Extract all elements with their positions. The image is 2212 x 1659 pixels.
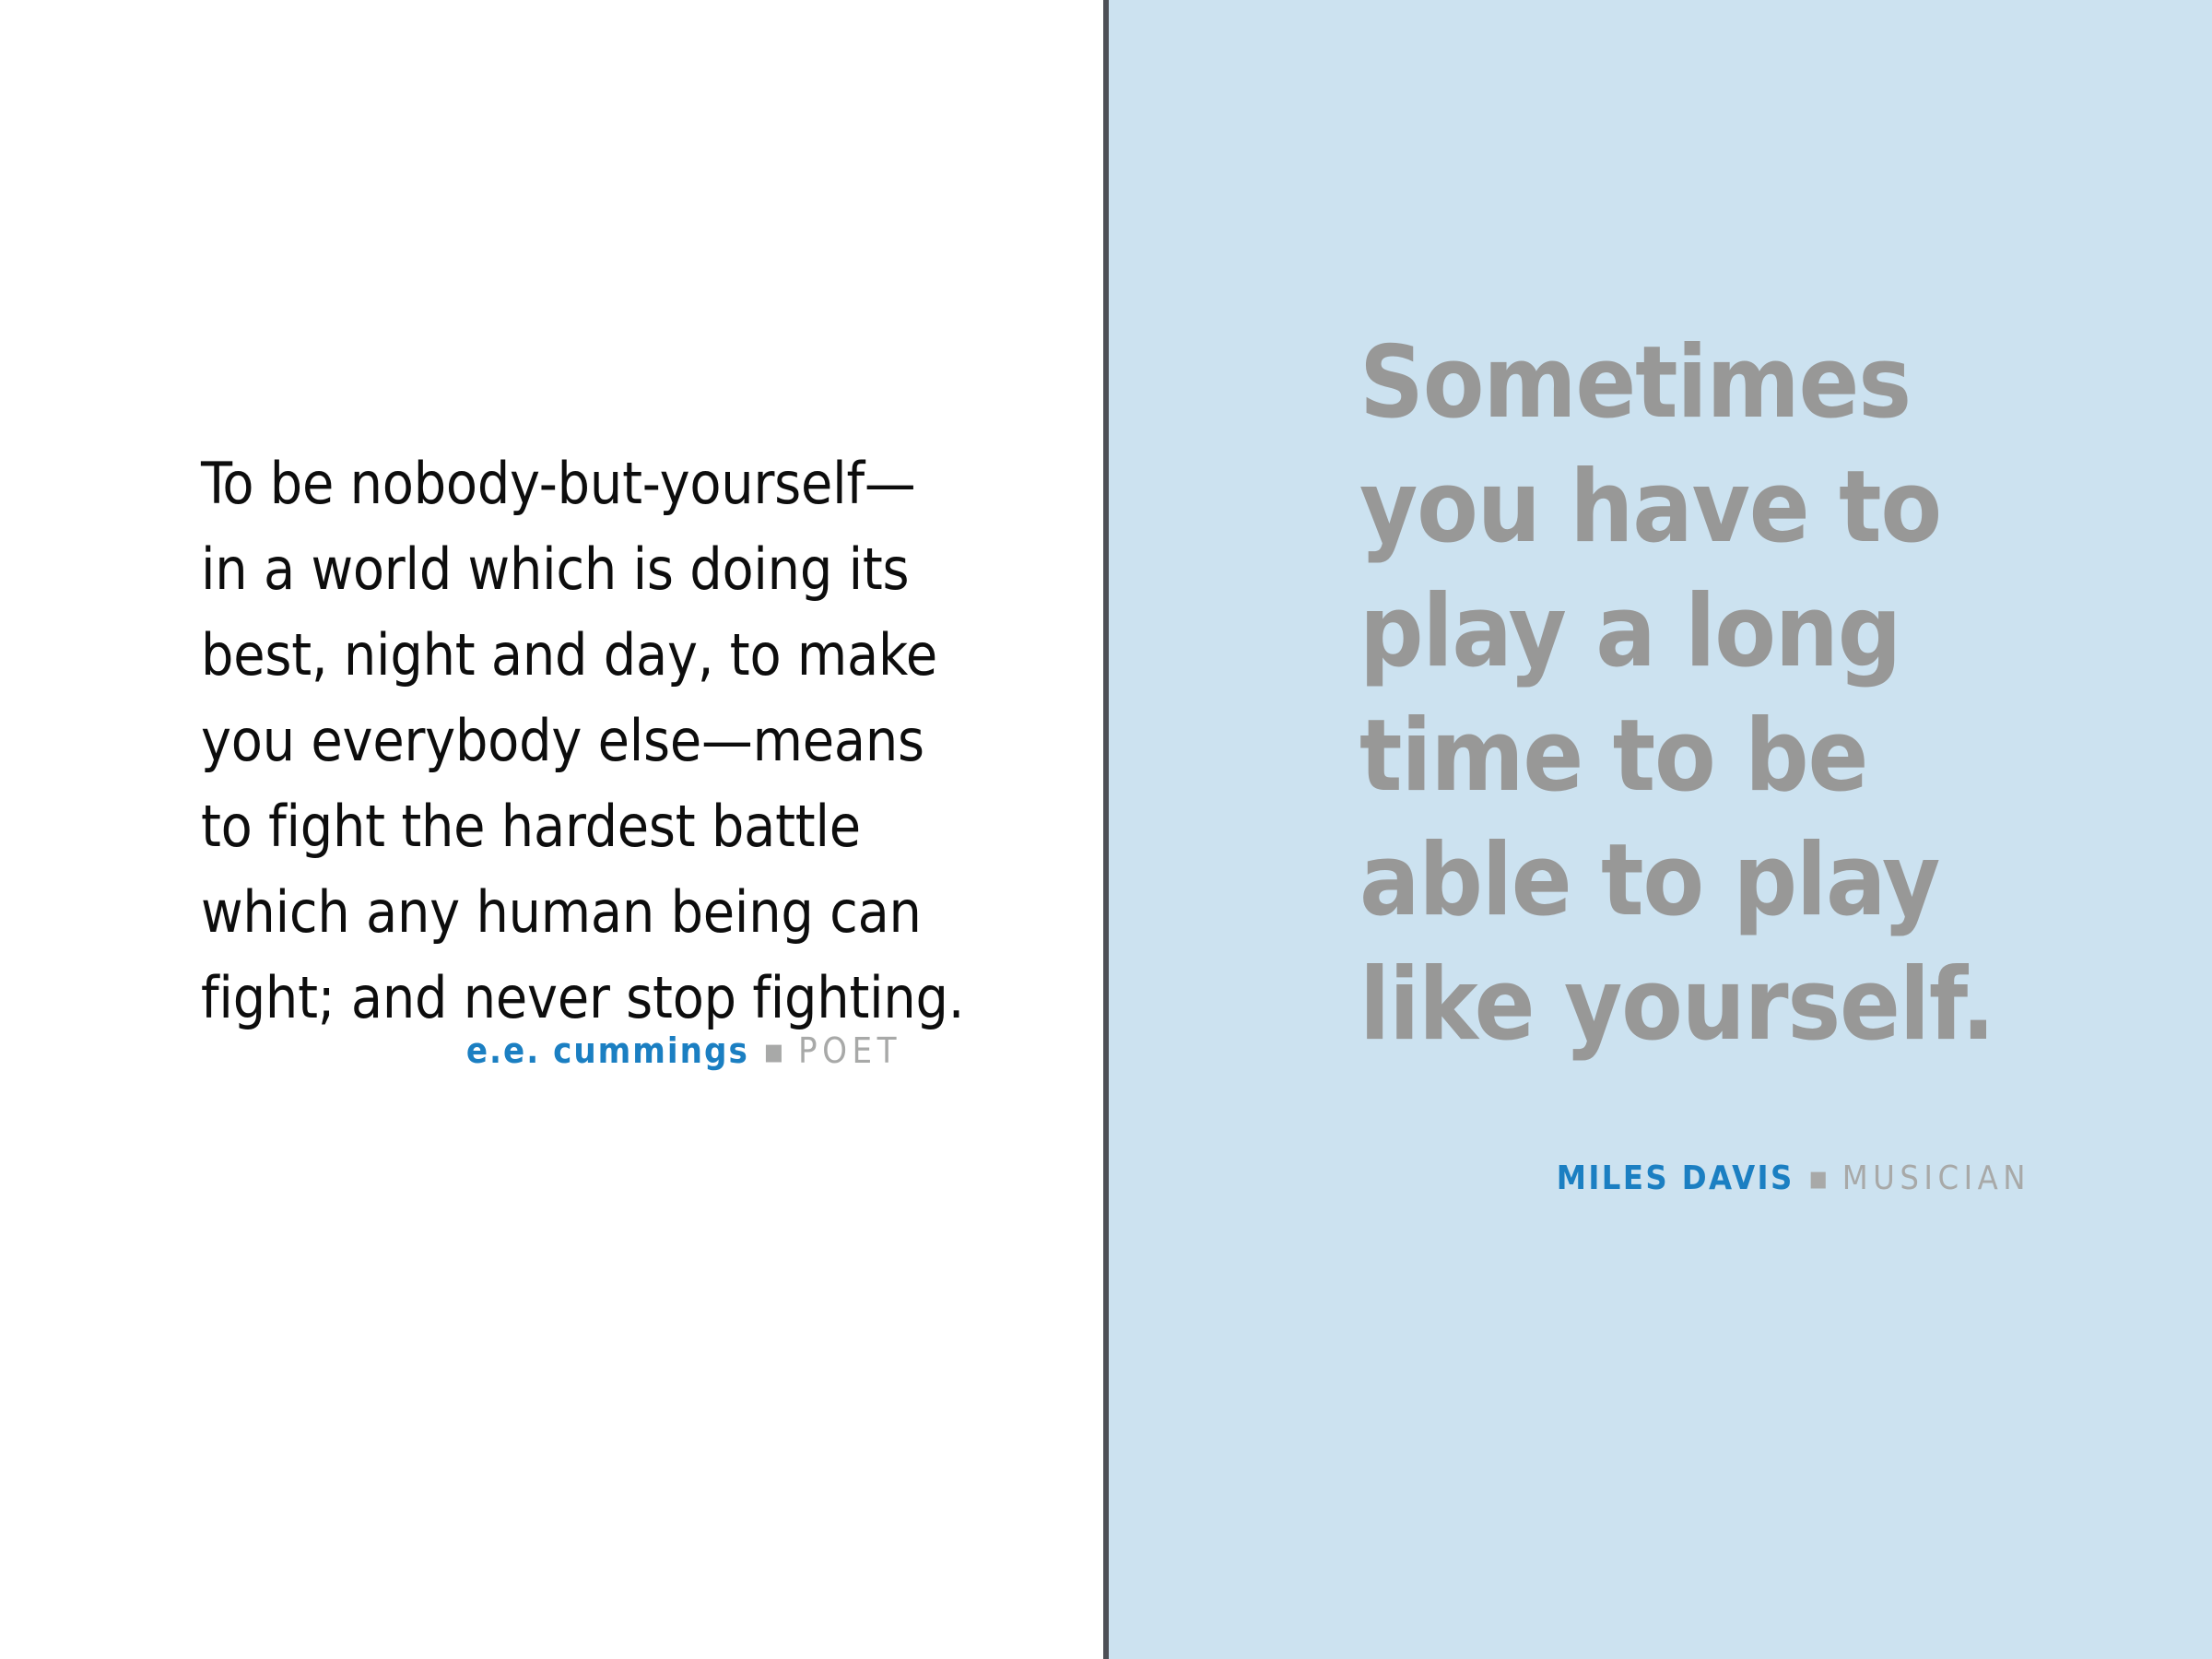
right-author-role: MUSICIAN — [1842, 1159, 2030, 1197]
left-author-name: e.e. cummings — [466, 1030, 749, 1071]
left-quote-block: To be nobody-but-yourself— in a world wh… — [201, 441, 901, 1041]
quote-line: which any human being can — [201, 869, 901, 955]
right-quote-text: Sometimes you have to play a long time t… — [1359, 321, 2171, 1067]
headline-line: like yourself. — [1359, 943, 2171, 1067]
headline-line: Sometimes — [1359, 321, 2171, 445]
quote-line: to fight the hardest battle — [201, 783, 901, 869]
right-author-name: MILES DAVIS — [1557, 1159, 1794, 1197]
footer-rule: 166 167 — [0, 1548, 2212, 1659]
quote-line: fight; and never stop fighting. — [201, 955, 901, 1041]
quote-line: best, night and day, to make — [201, 612, 901, 698]
quote-line: in a world which is doing its — [201, 526, 901, 612]
right-headline-block: Sometimes you have to play a long time t… — [1359, 321, 2171, 1067]
book-spread: To be nobody-but-yourself— in a world wh… — [0, 0, 2212, 1659]
right-attribution: MILES DAVIS ▪ MUSICIAN — [1109, 1159, 2030, 1197]
bullet-separator-icon: ▪ — [1808, 1159, 1829, 1197]
headline-line: play a long — [1359, 570, 2171, 694]
headline-line: you have to — [1359, 445, 2171, 570]
bullet-separator-icon: ▪ — [763, 1030, 784, 1071]
left-attribution: e.e. cummings ▪ POET — [0, 1030, 901, 1071]
headline-line: time to be — [1359, 694, 2171, 818]
quote-line: you everybody else—means — [201, 698, 901, 783]
page-gutter-divider — [1103, 0, 1109, 1659]
left-author-role: POET — [798, 1030, 901, 1071]
quote-line: To be nobody-but-yourself— — [201, 441, 901, 526]
left-quote-text: To be nobody-but-yourself— in a world wh… — [201, 441, 901, 1041]
headline-line: able to play — [1359, 818, 2171, 943]
